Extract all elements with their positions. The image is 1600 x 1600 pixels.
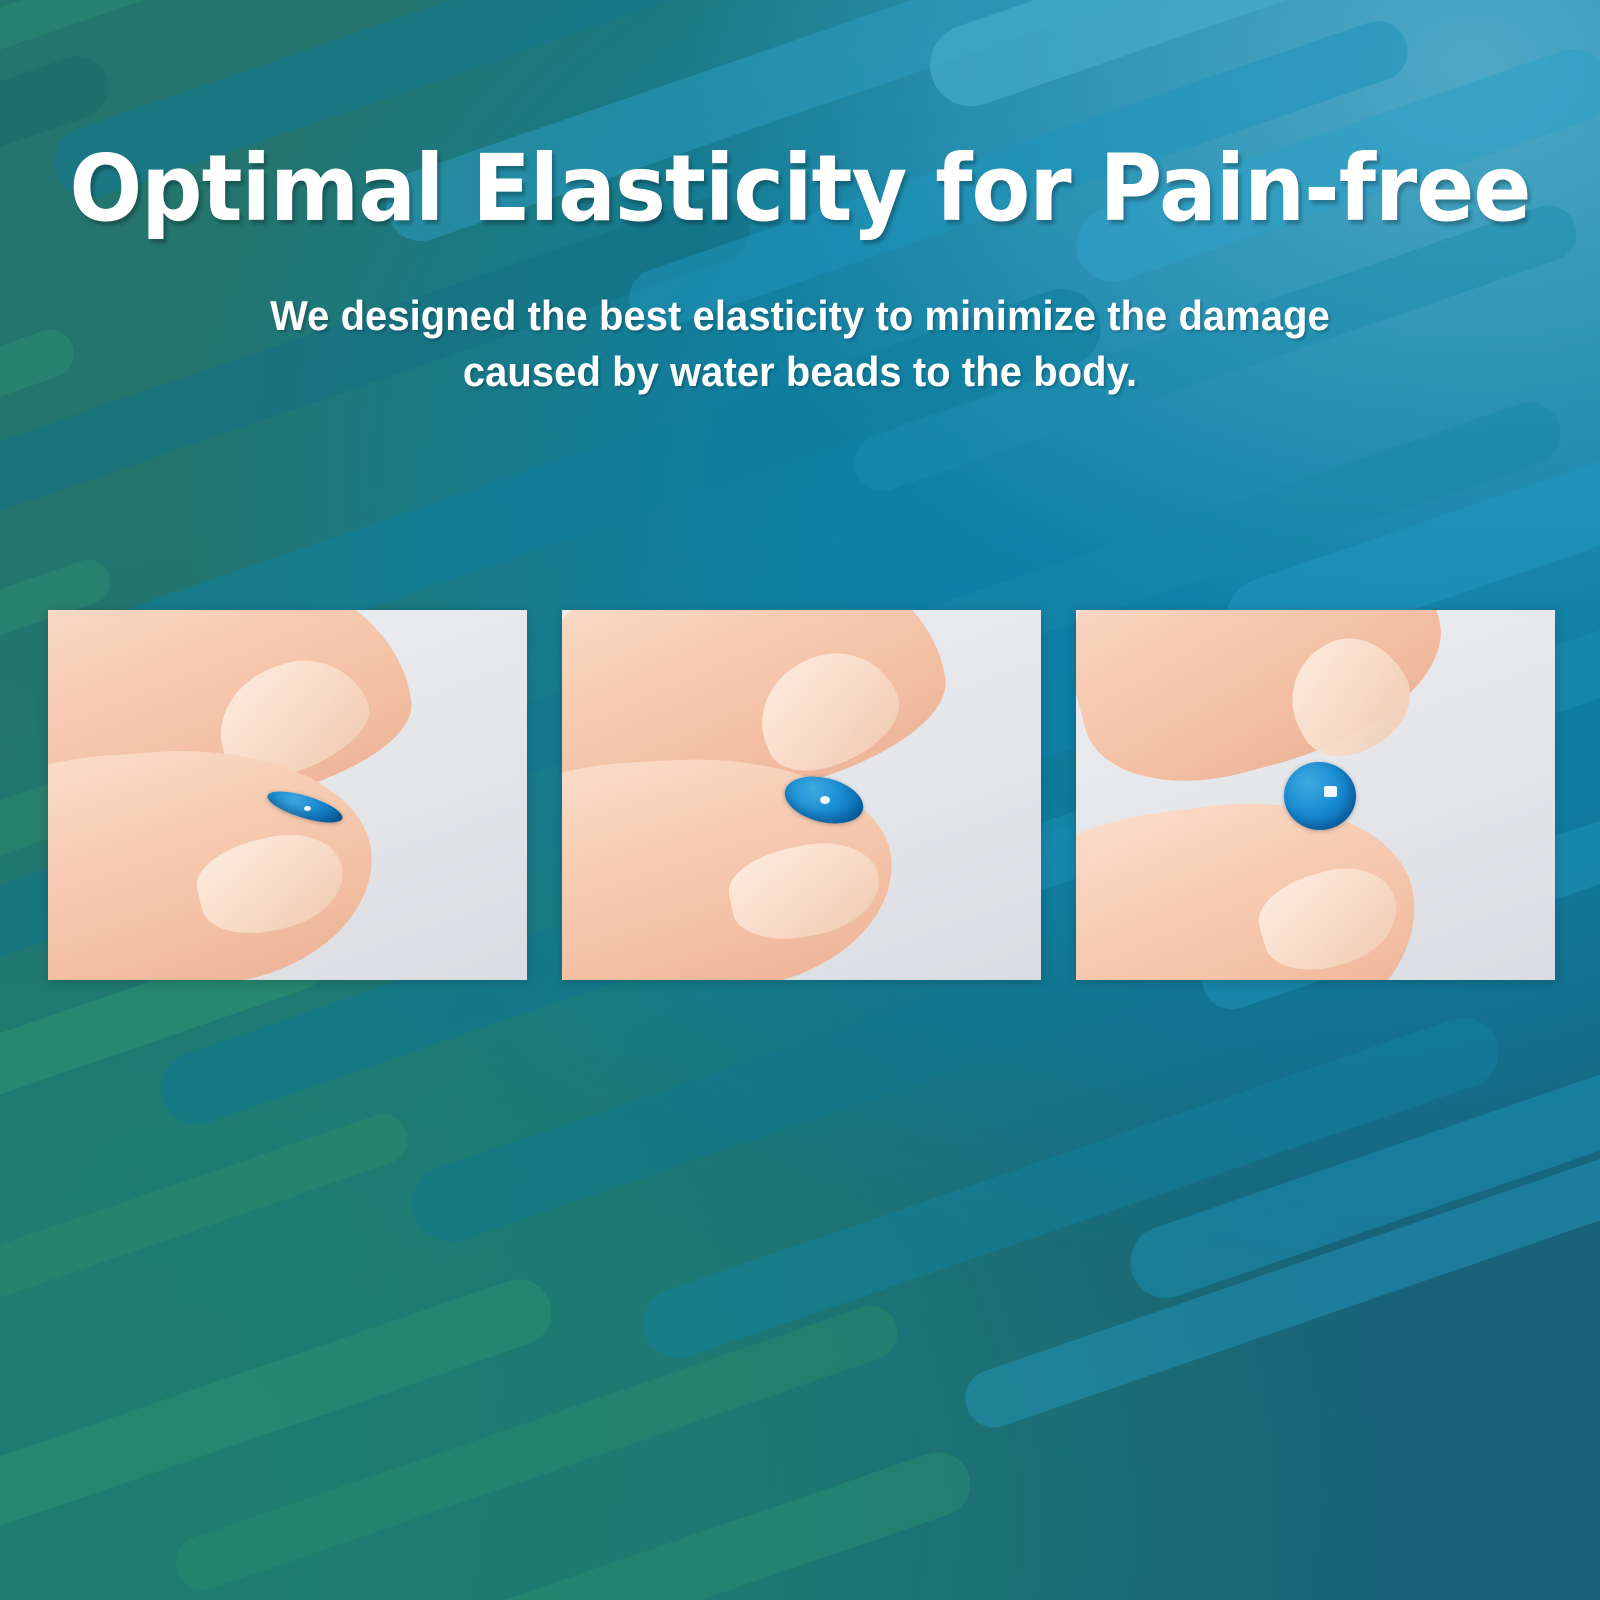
photo-panel-relaxed[interactable]	[1076, 610, 1555, 980]
photo-gallery	[48, 610, 1555, 980]
water-bead-highlight	[820, 796, 830, 804]
page-subtitle-line-2: caused by water beads to the body.	[202, 344, 1399, 400]
page-subtitle: We designed the best elasticity to minim…	[202, 288, 1399, 400]
water-bead-highlight	[304, 806, 311, 811]
bead-compression-scene-1	[48, 610, 527, 980]
page-subtitle-line-1: We designed the best elasticity to minim…	[202, 288, 1399, 344]
bead-compression-scene-2	[562, 610, 1041, 980]
photo-panel-partly-compressed[interactable]	[562, 610, 1041, 980]
water-bead-highlight	[1324, 786, 1337, 797]
promo-banner: Optimal Elasticity for Pain-free We desi…	[0, 0, 1600, 1600]
water-bead-relaxed	[1284, 762, 1356, 830]
bead-compression-scene-3	[1076, 610, 1555, 980]
page-title: Optimal Elasticity for Pain-free	[56, 143, 1544, 235]
photo-panel-fully-compressed[interactable]	[48, 610, 527, 980]
